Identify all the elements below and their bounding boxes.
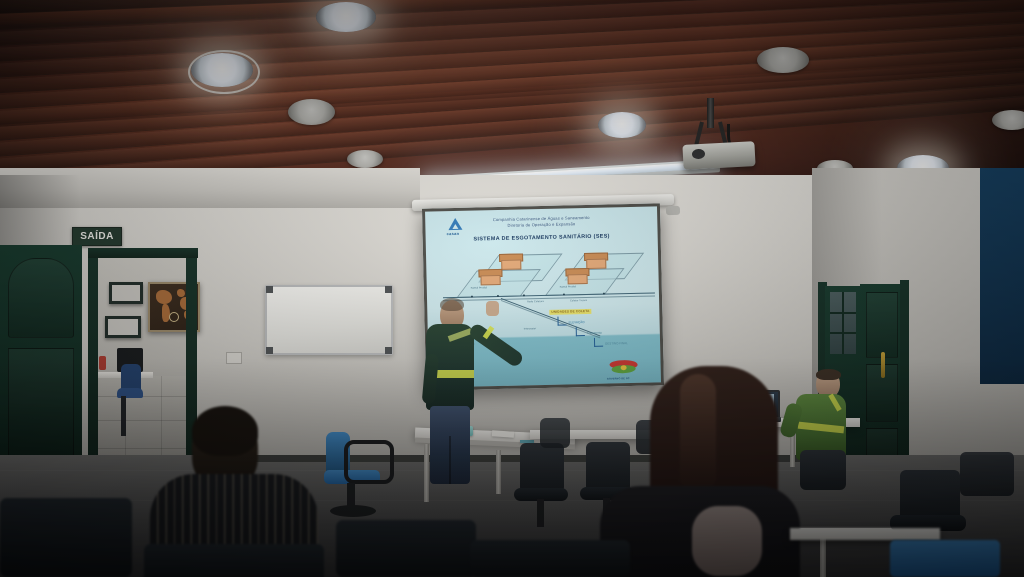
foreground-chair-left[interactable] <box>0 498 132 577</box>
presenter-raised-arm <box>467 322 525 369</box>
window-blind-right <box>980 168 1024 384</box>
left-doorway-frame <box>88 248 98 476</box>
house-1-body <box>501 259 521 269</box>
attendee-front-right <box>628 366 808 577</box>
whiteboard <box>265 285 393 355</box>
presenter <box>420 296 520 484</box>
right-door-panel-top <box>866 292 898 358</box>
foreground-chair-mid[interactable] <box>336 520 476 577</box>
left-door-panel-bottom <box>8 348 74 460</box>
legend-bracket-2 <box>576 327 585 336</box>
attendee-right-hair <box>816 369 841 380</box>
governo-sc-label: GOVERNO DE SC <box>607 377 630 381</box>
foreground-chair-right[interactable] <box>470 540 630 577</box>
side-table-right-leg <box>820 538 826 577</box>
left-door-panel-top <box>8 258 74 338</box>
downlight-6 <box>757 47 809 73</box>
attendee-left-chair[interactable] <box>144 544 324 577</box>
casan-logo-text: casan <box>446 231 459 236</box>
exit-sign: SAÍDA <box>72 227 122 246</box>
downlight-3 <box>316 2 376 32</box>
attendee-right-hair-sheen <box>680 374 716 494</box>
right-door-handle <box>881 352 885 378</box>
attendee-right-scarf <box>692 506 762 576</box>
chair-dark-4[interactable] <box>540 418 570 448</box>
legend-heading: UNIDADES DE COLETA <box>549 309 591 315</box>
legend-item-destino-final: DESTINO FINAL <box>605 341 628 346</box>
attendee-front-left <box>150 408 340 577</box>
label-ramal-predial-1: Ramal Predial <box>471 286 487 289</box>
house-2-body <box>480 275 500 285</box>
label-coletor-tronco: Coletor Tronco <box>570 299 587 302</box>
chair-dark-6[interactable] <box>960 452 1014 496</box>
label-interceptor: Interceptor <box>524 327 537 330</box>
projection-screen-case-cap <box>666 206 680 215</box>
legend-bracket-3 <box>594 338 603 347</box>
presenter-hand <box>486 301 499 316</box>
room-photo: SAÍDA <box>0 0 1024 577</box>
presenter-hair <box>440 298 464 311</box>
left-doorway-header <box>88 248 198 258</box>
chair-dark-2[interactable] <box>586 442 630 492</box>
downlight-4 <box>347 150 383 168</box>
exit-sign-label: SAÍDA <box>80 231 114 242</box>
label-ramal-predial-2: Ramal Predial <box>560 285 576 288</box>
projector-mount-pole <box>707 98 714 128</box>
downlight-5 <box>598 112 646 138</box>
legend-item-elevacao: ELEVAÇÃO <box>569 320 585 324</box>
foreground-table-right <box>790 528 940 540</box>
chair-dark-1[interactable] <box>520 443 564 493</box>
legend-bracket-1 <box>557 316 566 325</box>
foreground-chair-blue-right[interactable] <box>890 540 1000 577</box>
downlight-2 <box>288 99 335 125</box>
legend-item-tratamento: Tratamento <box>587 331 602 335</box>
chair-blue-arm-1[interactable] <box>344 440 394 484</box>
label-rede-coletora: Rede Coletora <box>527 300 544 303</box>
downlight-9 <box>992 110 1024 130</box>
attendee-left-hair <box>192 406 258 456</box>
wall-switch[interactable] <box>226 352 242 364</box>
house-4-body <box>567 274 587 284</box>
chair-dark-1-post <box>537 499 544 527</box>
downlight-1-ring <box>188 50 260 94</box>
